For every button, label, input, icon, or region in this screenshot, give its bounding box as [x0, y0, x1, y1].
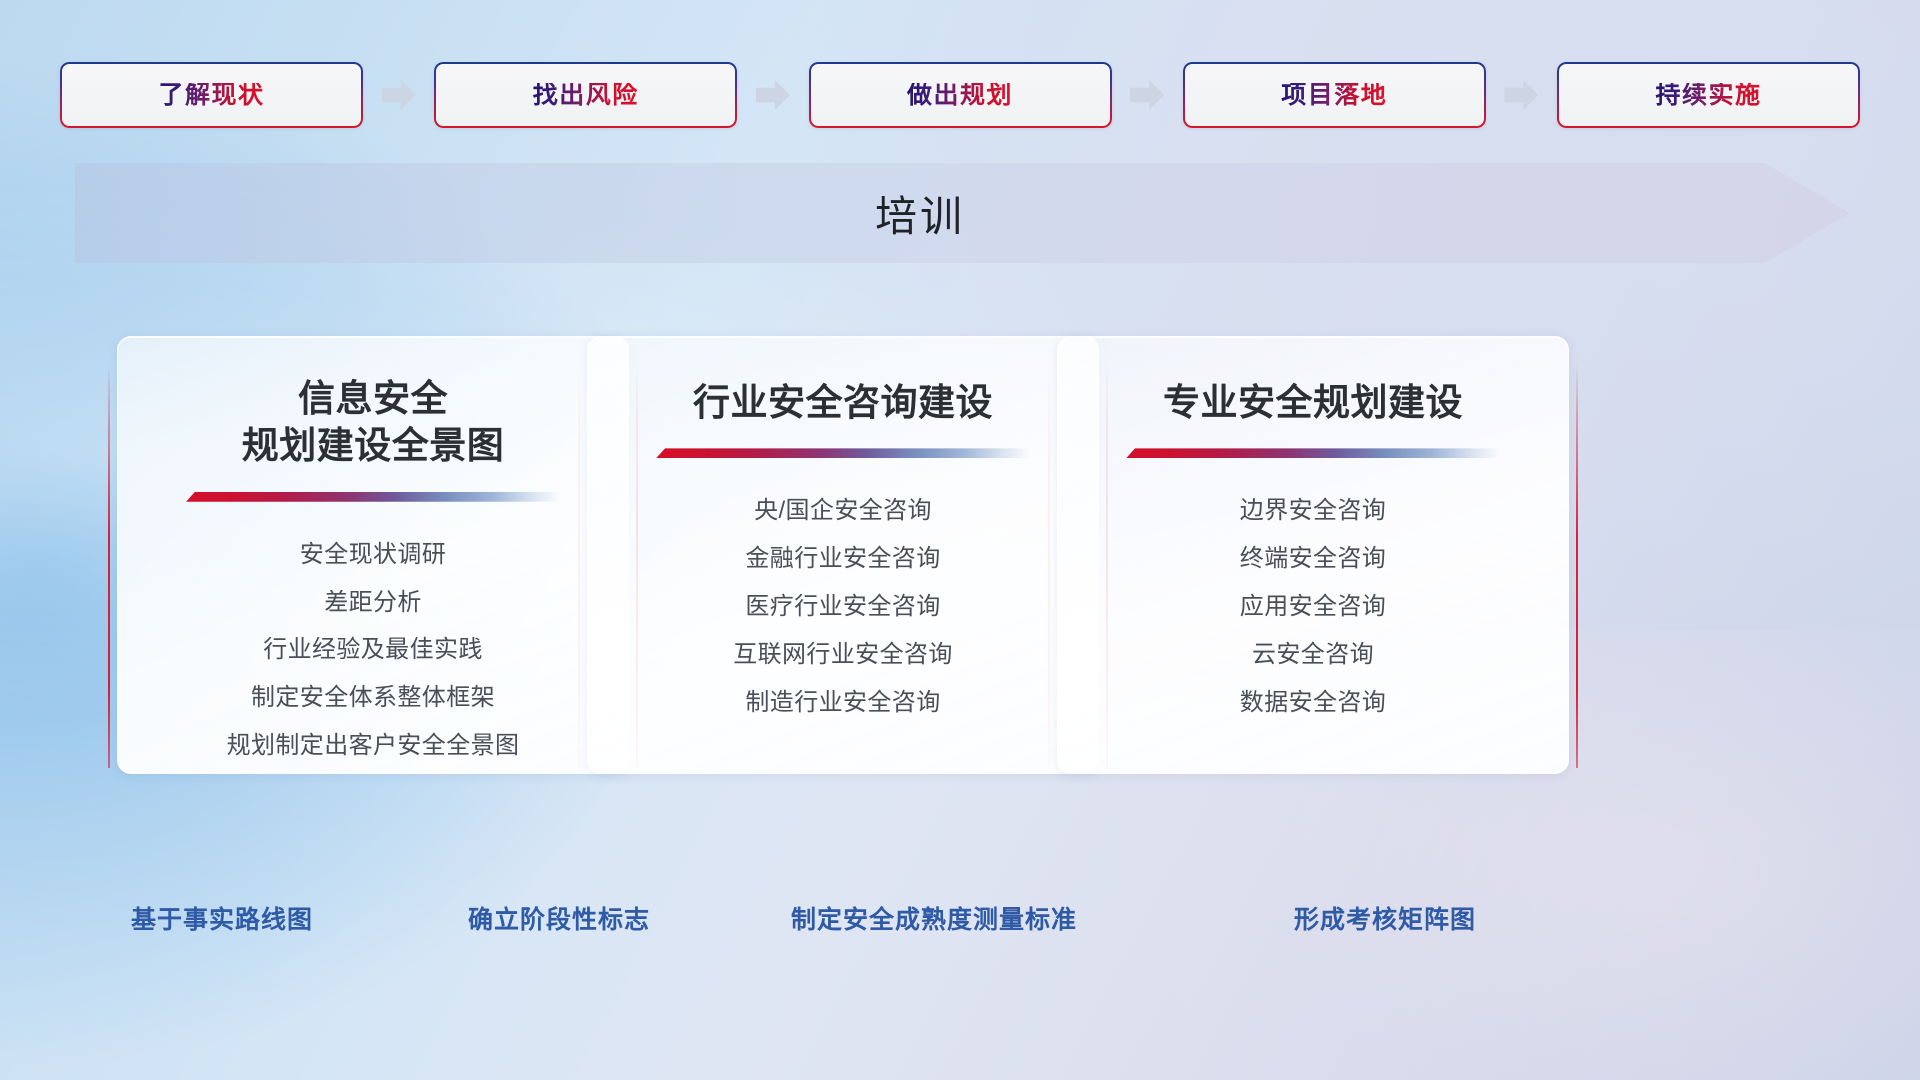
list-item: 行业经验及最佳实践 [263, 631, 483, 670]
training-banner-title: 培训 [75, 163, 1765, 263]
list-item: 金融行业安全咨询 [745, 540, 940, 579]
list-item: 医疗行业安全咨询 [745, 588, 940, 627]
slide-canvas: 了解现状 找出风险 做出规划 项目落地 持续实施 培训 信息安全 规划建设全景图 [0, 0, 1920, 1080]
card-divider [656, 448, 1030, 458]
info-card-1[interactable]: 信息安全 规划建设全景图 安全现状调研 差距分析 行业经验及最佳实践 制定安全体… [117, 336, 629, 774]
list-item: 央/国企安全咨询 [754, 492, 932, 531]
process-step-label: 了解现状 [158, 83, 264, 108]
info-card-3[interactable]: 专业安全规划建设 边界安全咨询 终端安全咨询 应用安全咨询 云安全咨询 数据安全… [1057, 336, 1569, 774]
process-step-3[interactable]: 做出规划 [809, 62, 1112, 128]
card-row: 信息安全 规划建设全景图 安全现状调研 差距分析 行业经验及最佳实践 制定安全体… [0, 336, 1920, 726]
caption-label-2: 确立阶段性标志 [468, 895, 650, 945]
process-step-label: 做出规划 [907, 83, 1013, 108]
card-title: 行业安全咨询建设 [693, 379, 993, 426]
list-item: 云安全咨询 [1252, 636, 1374, 675]
list-item: 安全现状调研 [300, 536, 446, 575]
card-list: 安全现状调研 差距分析 行业经验及最佳实践 制定安全体系整体框架 规划制定出客户… [144, 536, 602, 766]
chevron-right-arrow-icon-4 [1504, 80, 1538, 110]
caption-row: 基于事实路线图 确立阶段性标志 制定安全成熟度测量标准 形成考核矩阵图 [0, 895, 1920, 945]
card-wrapper-1: 信息安全 规划建设全景图 安全现状调研 差距分析 行业经验及最佳实践 制定安全体… [108, 336, 638, 726]
process-step-4[interactable]: 项目落地 [1183, 62, 1486, 128]
caption-label-4: 形成考核矩阵图 [1294, 895, 1476, 945]
list-item: 终端安全咨询 [1240, 540, 1386, 579]
process-step-5[interactable]: 持续实施 [1557, 62, 1860, 128]
card-wrapper-2: 行业安全咨询建设 央/国企安全咨询 金融行业安全咨询 医疗行业安全咨询 互联网行… [578, 336, 1108, 726]
chevron-right-arrow-icon-3 [1130, 80, 1164, 110]
process-step-2[interactable]: 找出风险 [434, 62, 737, 128]
card-wrapper-3: 专业安全规划建设 边界安全咨询 终端安全咨询 应用安全咨询 云安全咨询 数据安全… [1048, 336, 1578, 726]
card-right-accent-rail [1576, 364, 1578, 768]
list-item: 差距分析 [324, 584, 422, 623]
list-item: 数据安全咨询 [1240, 684, 1386, 723]
list-item: 制定安全体系整体框架 [251, 679, 495, 718]
card-title: 专业安全规划建设 [1163, 379, 1463, 426]
list-item: 边界安全咨询 [1240, 492, 1386, 531]
card-divider [186, 492, 560, 502]
process-step-label: 找出风险 [533, 83, 639, 108]
caption-label-3: 制定安全成熟度测量标准 [791, 895, 1077, 945]
list-item: 应用安全咨询 [1240, 588, 1386, 627]
card-list: 央/国企安全咨询 金融行业安全咨询 医疗行业安全咨询 互联网行业安全咨询 制造行… [614, 492, 1072, 722]
card-divider [1126, 448, 1500, 458]
list-item: 互联网行业安全咨询 [733, 636, 953, 675]
chevron-right-arrow-icon-2 [756, 80, 790, 110]
process-step-label: 项目落地 [1281, 83, 1387, 108]
card-title: 信息安全 规划建设全景图 [242, 375, 505, 470]
caption-label-1: 基于事实路线图 [131, 895, 313, 945]
card-list: 边界安全咨询 终端安全咨询 应用安全咨询 云安全咨询 数据安全咨询 [1084, 492, 1542, 722]
chevron-right-arrow-icon-1 [382, 80, 416, 110]
list-item: 制造行业安全咨询 [745, 684, 940, 723]
process-step-1[interactable]: 了解现状 [60, 62, 363, 128]
list-item: 规划制定出客户安全全景图 [227, 727, 520, 766]
process-step-row: 了解现状 找出风险 做出规划 项目落地 持续实施 [60, 62, 1860, 128]
process-step-label: 持续实施 [1655, 83, 1761, 108]
info-card-2[interactable]: 行业安全咨询建设 央/国企安全咨询 金融行业安全咨询 医疗行业安全咨询 互联网行… [587, 336, 1099, 774]
card-left-accent-rail [108, 364, 110, 768]
